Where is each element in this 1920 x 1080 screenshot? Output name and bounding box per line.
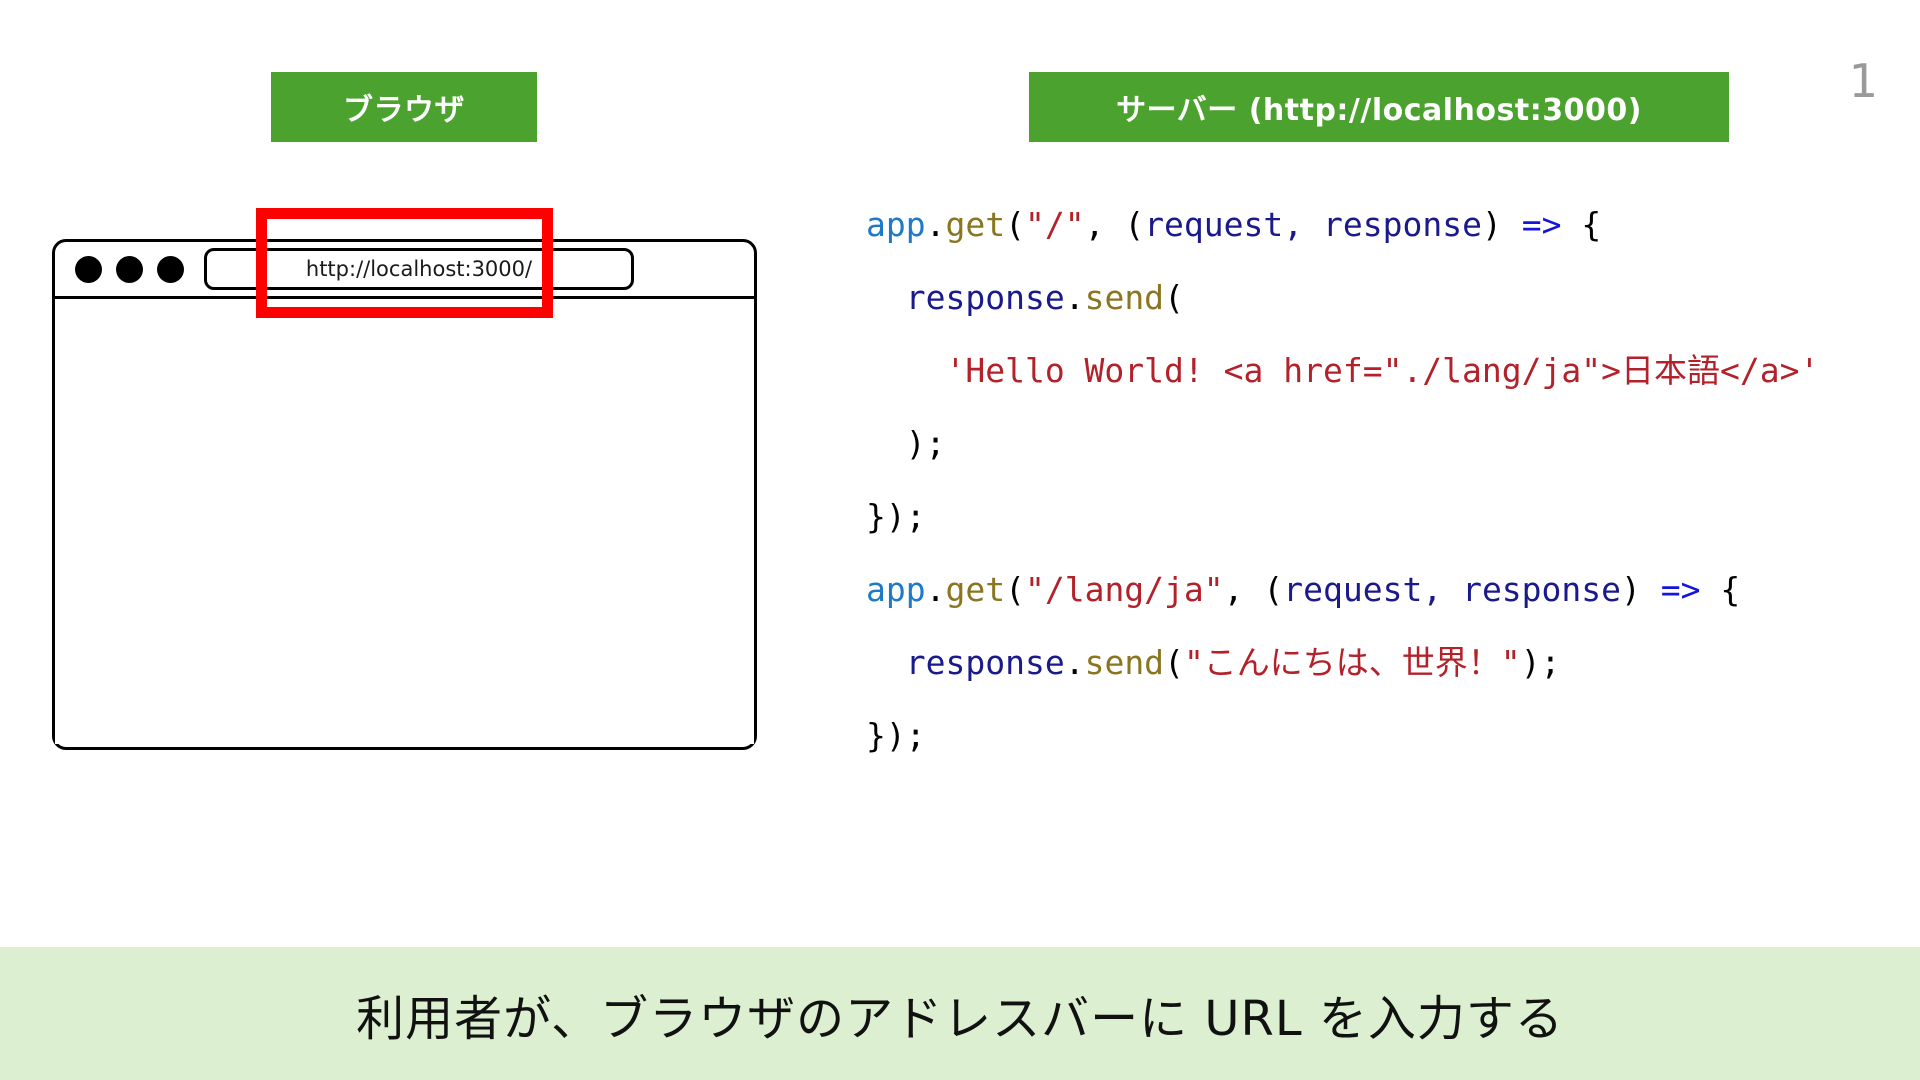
code-line: app.get("/lang/ja", (request, response) …	[866, 553, 1906, 626]
window-close-dot-icon[interactable]	[75, 256, 102, 283]
caption-text: 利用者が、ブラウザのアドレスバーに URL を入力する	[356, 979, 1564, 1049]
code-token-pun	[866, 643, 906, 682]
window-maximize-dot-icon[interactable]	[157, 256, 184, 283]
browser-viewport	[55, 299, 754, 744]
code-token-var: response	[906, 278, 1065, 317]
browser-column-label: ブラウザ	[343, 85, 465, 129]
code-token-arrow: =>	[1661, 570, 1701, 609]
code-token-pun: .	[1065, 278, 1085, 317]
code-token-fn: send	[1085, 278, 1164, 317]
code-token-pun: );	[1521, 643, 1561, 682]
code-token-pun: .	[1065, 643, 1085, 682]
code-token-pun: , (	[1085, 205, 1145, 244]
code-token-pun: (	[1005, 570, 1025, 609]
browser-column-banner: ブラウザ	[271, 72, 537, 142]
code-token-str: "/"	[1025, 205, 1085, 244]
code-token-obj: app	[866, 570, 926, 609]
slide-number: 1	[1849, 58, 1878, 104]
code-token-fn: send	[1085, 643, 1164, 682]
code-line: response.send("こんにちは、世界！");	[866, 626, 1906, 699]
code-token-pun: {	[1561, 205, 1601, 244]
caption-band: 利用者が、ブラウザのアドレスバーに URL を入力する	[0, 947, 1920, 1080]
address-bar-highlight-box	[256, 208, 553, 318]
code-token-var: response	[906, 643, 1065, 682]
code-line: app.get("/", (request, response) => {	[866, 188, 1906, 261]
code-token-pun: )	[1482, 205, 1522, 244]
code-token-pun: });	[866, 497, 926, 536]
code-token-pun	[866, 351, 945, 390]
code-token-var: request, response	[1144, 205, 1482, 244]
server-column-banner: サーバー (http://localhost:3000)	[1029, 72, 1729, 142]
code-line: });	[866, 699, 1906, 772]
code-token-pun: (	[1164, 643, 1184, 682]
window-minimize-dot-icon[interactable]	[116, 256, 143, 283]
code-token-str: "こんにちは、世界！"	[1184, 643, 1521, 682]
code-token-pun: .	[926, 205, 946, 244]
code-token-pun: (	[1005, 205, 1025, 244]
code-token-obj: app	[866, 205, 926, 244]
code-token-pun: {	[1701, 570, 1741, 609]
code-token-str: "/lang/ja"	[1025, 570, 1224, 609]
code-token-arrow: =>	[1522, 205, 1562, 244]
code-line: );	[866, 407, 1906, 480]
code-token-pun	[866, 278, 906, 317]
code-line: 'Hello World! <a href="./lang/ja">日本語</a…	[866, 334, 1906, 407]
code-token-pun: );	[866, 424, 945, 463]
code-token-fn: get	[945, 570, 1005, 609]
code-token-pun: )	[1621, 570, 1661, 609]
code-token-fn: get	[945, 205, 1005, 244]
slide-root: 1 ブラウザ サーバー (http://localhost:3000) http…	[0, 0, 1920, 1080]
window-traffic-lights	[75, 256, 184, 283]
code-token-var: request, response	[1283, 570, 1621, 609]
code-line: response.send(	[866, 261, 1906, 334]
code-line: });	[866, 480, 1906, 553]
server-code-block: app.get("/", (request, response) => { re…	[866, 188, 1906, 772]
code-token-str: 'Hello World! <a href="./lang/ja">日本語</a…	[945, 351, 1819, 390]
code-token-pun: (	[1164, 278, 1184, 317]
server-column-label: サーバー (http://localhost:3000)	[1116, 85, 1642, 129]
code-token-pun: , (	[1224, 570, 1284, 609]
code-token-pun: .	[926, 570, 946, 609]
code-token-pun: });	[866, 716, 926, 755]
